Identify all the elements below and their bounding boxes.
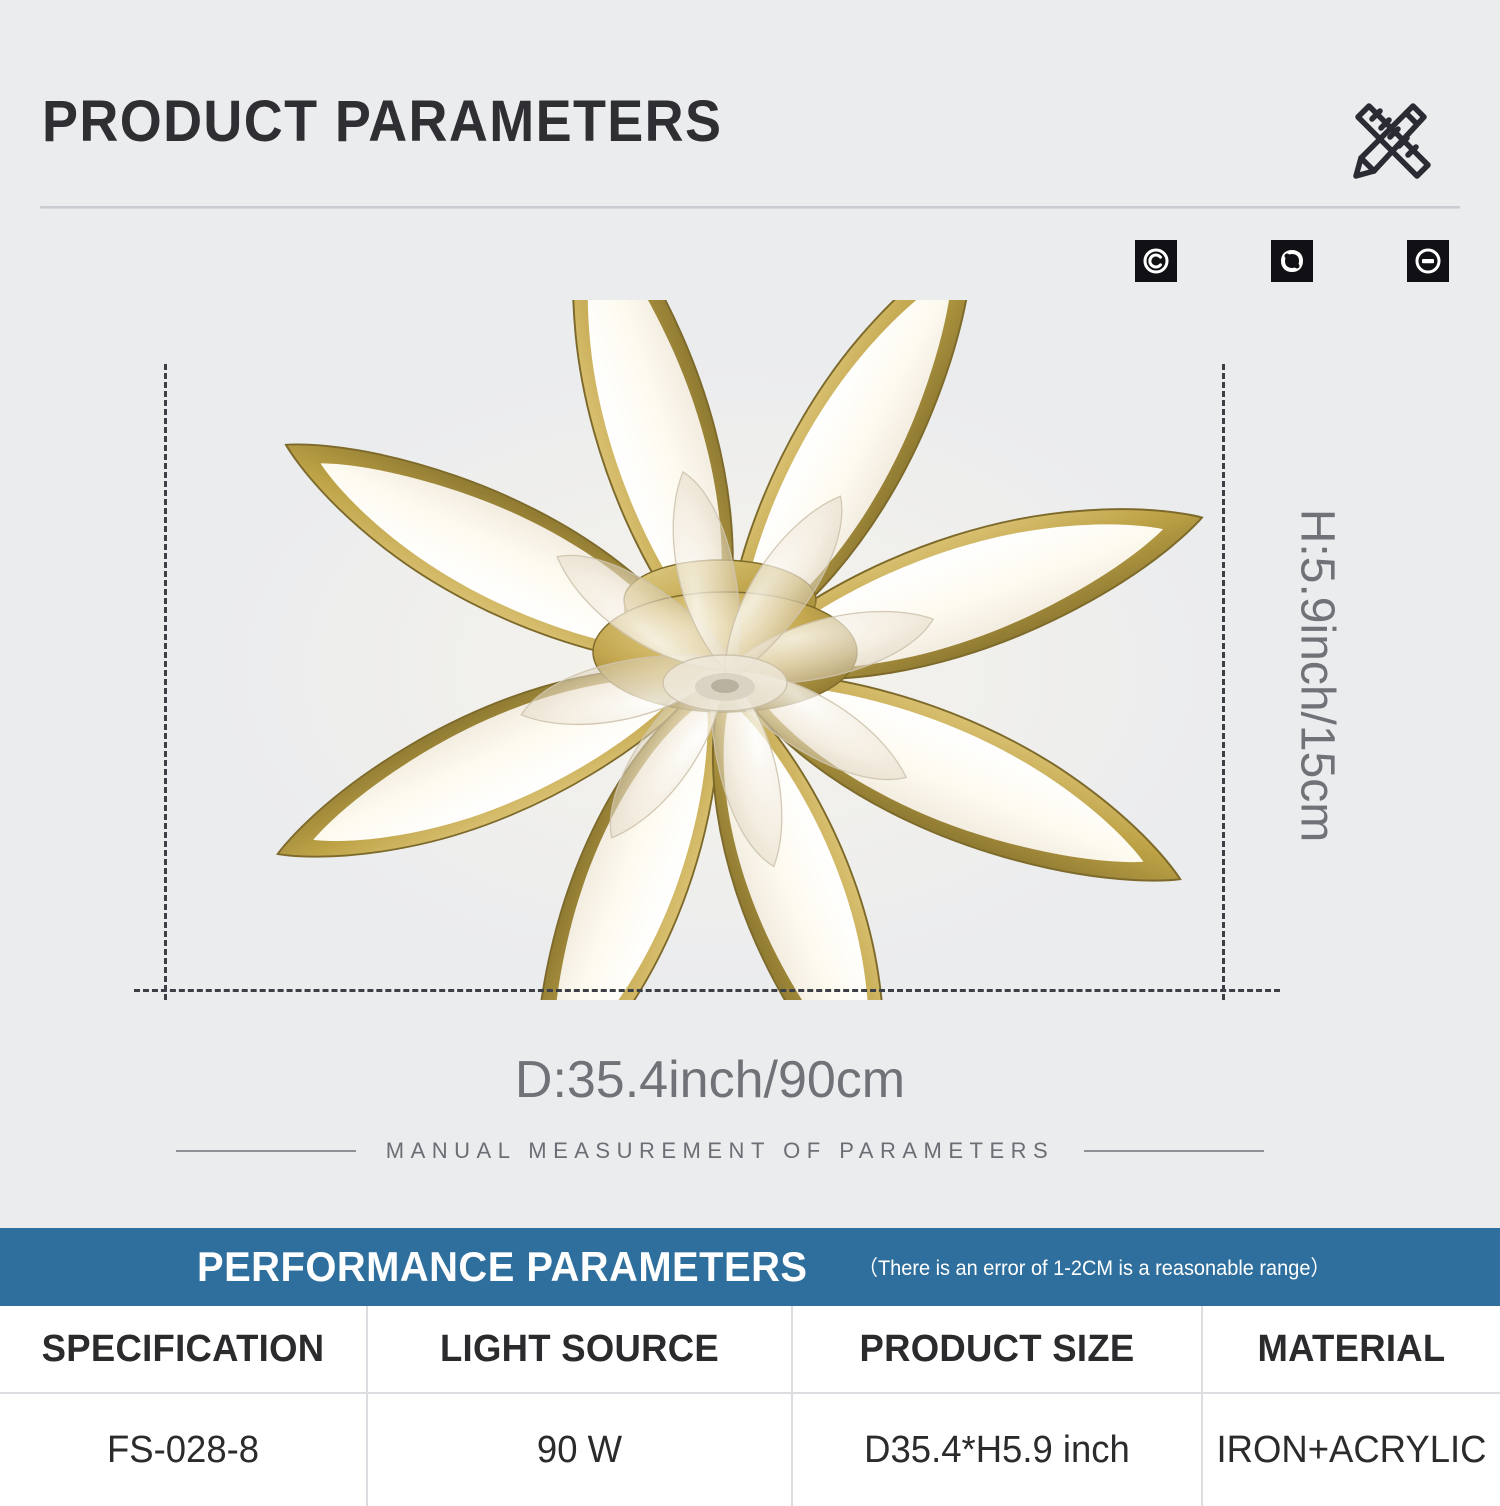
cell-light-source: 90 W	[376, 1393, 784, 1506]
manual-measurement-note: MANUAL MEASUREMENT OF PARAMETERS	[0, 1138, 1440, 1164]
cell-material: IRON+ACRYLIC	[1208, 1393, 1494, 1506]
flower-ceiling-fan-illustration	[165, 300, 1275, 1000]
performance-title: PERFORMANCE PARAMETERS	[197, 1243, 807, 1291]
note-rule-right	[1084, 1150, 1264, 1152]
cell-product-size: D35.4*H5.9 inch	[800, 1393, 1194, 1506]
rotation-badge-icon	[1271, 240, 1313, 282]
diagram-panel: PRODUCT PARAMETERS	[0, 0, 1500, 1228]
column-header-specification: SPECIFICATION	[7, 1306, 359, 1393]
table-header-row: SPECIFICATION LIGHT SOURCE PRODUCT SIZE …	[0, 1306, 1500, 1393]
performance-parameters-bar: PERFORMANCE PARAMETERS （There is an erro…	[0, 1228, 1500, 1306]
height-dimension-label: H:5.9inch/15cm	[1282, 480, 1352, 870]
dimension-line-bottom	[134, 989, 1280, 992]
dimension-line-left	[164, 364, 167, 1000]
manual-note-text: MANUAL MEASUREMENT OF PARAMETERS	[386, 1138, 1054, 1164]
height-dimension-text: H:5.9inch/15cm	[1290, 508, 1345, 842]
note-rule-left	[176, 1150, 356, 1152]
product-parameters-page: PRODUCT PARAMETERS	[0, 0, 1500, 1500]
column-header-material: MATERIAL	[1208, 1306, 1494, 1393]
minus-circle-badge-icon	[1407, 240, 1449, 282]
page-title: PRODUCT PARAMETERS	[42, 88, 722, 155]
specification-table: SPECIFICATION LIGHT SOURCE PRODUCT SIZE …	[0, 1306, 1500, 1506]
column-header-product-size: PRODUCT SIZE	[800, 1306, 1194, 1393]
cell-specification: FS-028-8	[7, 1393, 359, 1506]
dimension-line-right	[1222, 364, 1225, 1000]
column-header-light-source: LIGHT SOURCE	[376, 1306, 784, 1393]
title-divider	[40, 206, 1460, 209]
certification-badge-row	[1135, 240, 1455, 286]
copyright-badge-icon	[1135, 240, 1177, 282]
ruler-pencil-icon	[1336, 84, 1446, 194]
diameter-dimension-label: D:35.4inch/90cm	[0, 1050, 1420, 1110]
product-image	[165, 300, 1275, 1000]
performance-note: （There is an error of 1-2CM is a reasona…	[858, 1252, 1330, 1282]
table-row: FS-028-8 90 W D35.4*H5.9 inch IRON+ACRYL…	[0, 1393, 1500, 1506]
